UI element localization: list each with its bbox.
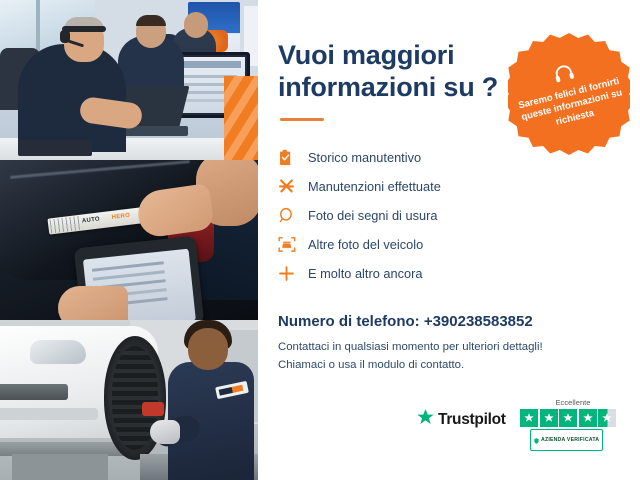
star-icon <box>579 409 597 427</box>
page-title: Vuoi maggiori informazioni su ? <box>278 40 518 104</box>
call-center-agents-photo <box>0 0 258 160</box>
promo-banner: AUTO HERO <box>0 0 640 480</box>
star-icon <box>520 409 538 427</box>
autohero-brand-text-2: HERO <box>111 213 130 221</box>
list-item-label: Altre foto del veicolo <box>308 237 423 252</box>
rating-caption: Eccellente <box>520 398 626 407</box>
star-icon-partial <box>598 409 616 427</box>
list-item-label: Manutenzioni effettuate <box>308 179 441 194</box>
title-divider <box>280 118 324 121</box>
list-item: E molto altro ancora <box>278 259 528 288</box>
shield-check-icon <box>534 431 539 449</box>
list-item: Foto dei segni di usura <box>278 201 528 230</box>
list-item-label: Foto dei segni di usura <box>308 208 437 223</box>
tools-wrench-icon <box>278 178 308 195</box>
list-item-label: E molto altro ancora <box>308 266 423 281</box>
plus-icon <box>278 265 308 282</box>
car-scan-icon <box>278 236 308 253</box>
trustpilot-rating: Eccellente <box>520 398 626 427</box>
page-title-line2: informazioni su ? <box>278 72 518 104</box>
magnifier-icon <box>278 207 308 224</box>
list-item: Manutenzioni effettuate <box>278 172 528 201</box>
feature-list: Storico manutentivo Manutenzioni effettu… <box>278 143 528 288</box>
phone-number: Numero di telefono: +390238583852 <box>278 313 533 330</box>
trustpilot-widget[interactable]: Trustpilot Eccellente <box>416 398 626 446</box>
trustpilot-name: Trustpilot <box>438 411 506 429</box>
vehicle-inspection-photo: AUTO HERO <box>0 160 258 320</box>
list-item-label: Storico manutentivo <box>308 150 421 165</box>
contact-description-line1: Contattaci in qualsiasi momento per ulte… <box>278 339 608 357</box>
list-item: Altre foto del veicolo <box>278 230 528 259</box>
info-on-request-badge: Saremo felici di fornirti queste informa… <box>508 33 630 155</box>
photo-strip: AUTO HERO <box>0 0 258 480</box>
star-icon <box>540 409 558 427</box>
clipboard-check-icon <box>278 149 308 166</box>
page-title-line1: Vuoi maggiori <box>278 40 518 72</box>
contact-description-line2: Chiamaci o usa il modulo di contatto. <box>278 357 608 375</box>
headset-icon <box>551 62 578 90</box>
content-panel: Vuoi maggiori informazioni su ? Saremo f… <box>258 0 640 480</box>
verified-company-badge: AZIENDA VERIFICATA <box>530 429 603 451</box>
star-rating <box>520 409 626 427</box>
autohero-brand-text-1: AUTO <box>82 216 101 224</box>
star-icon <box>559 409 577 427</box>
verified-label: AZIENDA VERIFICATA <box>541 437 599 443</box>
workshop-wheel-check-photo <box>0 320 258 480</box>
trustpilot-star-icon <box>416 408 435 432</box>
list-item: Storico manutentivo <box>278 143 528 172</box>
contact-description: Contattaci in qualsiasi momento per ulte… <box>278 339 608 374</box>
trustpilot-logo: Trustpilot <box>416 408 506 432</box>
